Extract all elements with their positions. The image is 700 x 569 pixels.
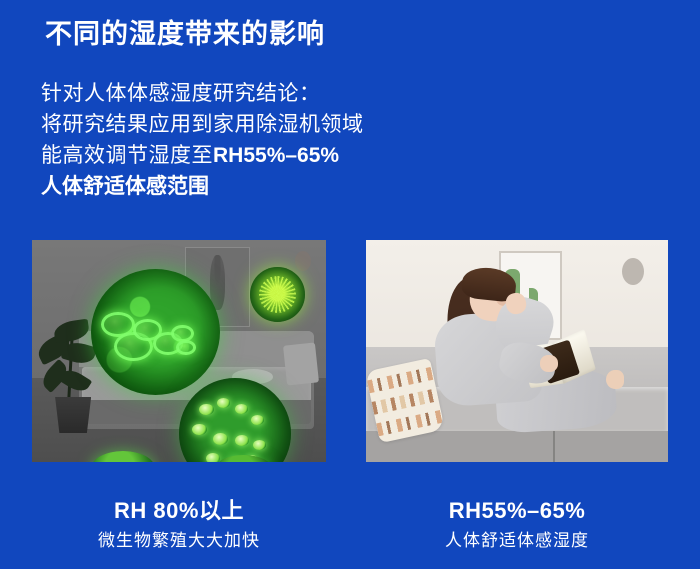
sofa-cushion	[283, 343, 319, 386]
body-copy-line-4: 人体舒适体感范围	[41, 171, 364, 202]
plant-pot	[55, 397, 91, 434]
plant-leaf	[53, 318, 90, 342]
microbe-dot-icon	[213, 433, 229, 445]
caption-comfort-humidity: RH55%–65% 人体舒适体感湿度	[366, 498, 668, 553]
dark-room-scene	[32, 240, 326, 462]
woman-reading	[420, 264, 619, 453]
microbe-cluster-large-icon	[91, 269, 220, 396]
poster-root: 不同的湿度带来的影响 针对人体体感湿度研究结论： 将研究结果应用到家用除湿机领域…	[0, 0, 700, 569]
body-copy-line-3-prefix: 能高效调节湿度至	[41, 144, 213, 167]
photo-high-humidity	[32, 240, 326, 462]
body-copy-line-3: 能高效调节湿度至RH55%–65%	[41, 140, 364, 171]
microbe-dot-icon	[235, 435, 250, 446]
microbe-dot-icon	[217, 398, 230, 408]
caption-subtitle: 微生物繁殖大大加快	[32, 528, 326, 553]
microbe-dot-icon	[206, 453, 221, 462]
caption-high-humidity: RH 80%以上 微生物繁殖大大加快	[32, 498, 326, 553]
microbe-dot-icon	[251, 415, 264, 425]
microbe-dot-icon	[253, 440, 266, 450]
light-room-scene	[366, 240, 668, 462]
caption-title: RH55%–65%	[366, 498, 668, 524]
body-copy-line-3-highlight: RH55%–65%	[213, 144, 339, 167]
hand	[540, 355, 558, 372]
microbe-dot-icon	[192, 424, 207, 435]
body-copy-line-1: 针对人体体感湿度研究结论：	[41, 78, 364, 109]
caption-subtitle: 人体舒适体感湿度	[366, 528, 668, 553]
page-title: 不同的湿度带来的影响	[45, 18, 325, 52]
microbe-cell-icon	[176, 340, 195, 355]
microbe-dot-icon	[199, 404, 214, 415]
microbe-virus-icon	[250, 267, 306, 323]
photo-comfort-humidity	[366, 240, 668, 462]
body-copy: 针对人体体感湿度研究结论： 将研究结果应用到家用除湿机领域 能高效调节湿度至RH…	[41, 78, 364, 202]
body-copy-line-2: 将研究结果应用到家用除湿机领域	[41, 109, 364, 140]
microbe-dot-icon	[235, 404, 248, 414]
foot	[606, 370, 624, 389]
caption-title: RH 80%以上	[32, 498, 326, 524]
wall-lamp-icon	[622, 258, 644, 285]
